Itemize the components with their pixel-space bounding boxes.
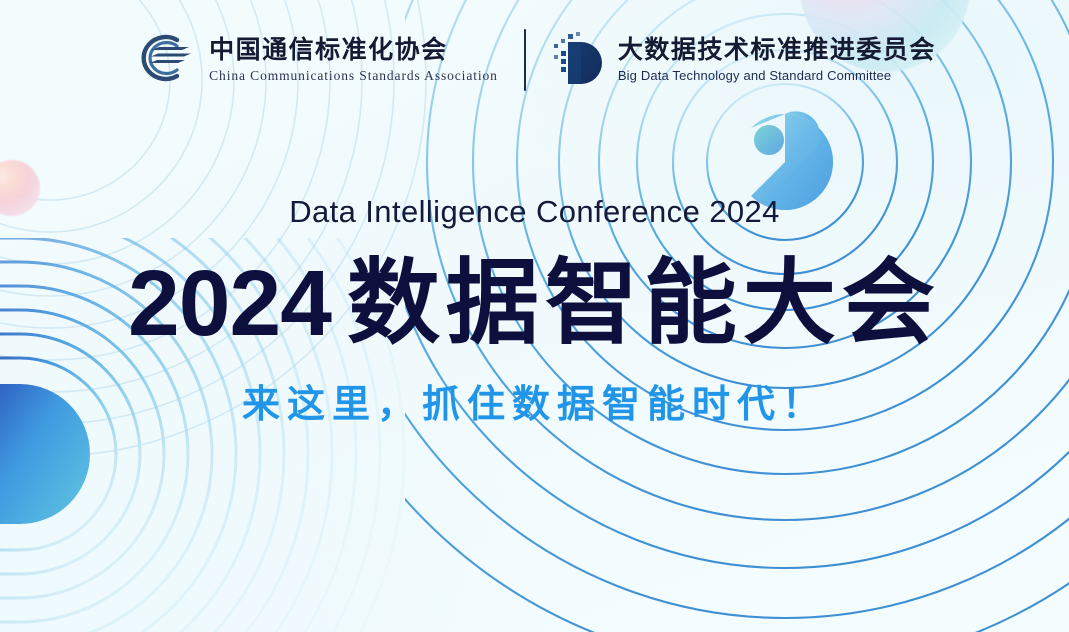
bigdata-logo-text: 大数据技术标准推进委员会 Big Data Technology and Sta… [618, 38, 936, 82]
logo-header: 中国通信标准化协会 China Communications Standards… [0, 0, 1069, 120]
conference-eyebrow: Data Intelligence Conference 2024 [0, 196, 1069, 227]
ccsa-logo-block: 中国通信标准化协会 China Communications Standards… [133, 31, 498, 90]
big-data-d-logo-icon [552, 30, 606, 91]
bigdata-logo-block: 大数据技术标准推进委员会 Big Data Technology and Sta… [552, 30, 936, 91]
conference-poster: 中国通信标准化协会 China Communications Standards… [0, 0, 1069, 632]
headline-year: 2024 [128, 251, 331, 355]
bigdata-name-cn: 大数据技术标准推进委员会 [618, 36, 936, 64]
ccsa-c-swoosh-logo-icon [133, 31, 197, 90]
page-title: 2024数据智能大会 [0, 255, 1069, 352]
logo-divider [524, 29, 526, 91]
ccsa-name-en: China Communications Standards Associati… [209, 69, 498, 83]
ccsa-name-cn: 中国通信标准化协会 [209, 36, 448, 64]
main-copy: Data Intelligence Conference 2024 2024数据… [0, 196, 1069, 424]
ccsa-logo-text: 中国通信标准化协会 China Communications Standards… [209, 38, 498, 83]
headline-cn: 数据智能大会 [347, 251, 941, 355]
bigdata-name-en: Big Data Technology and Standard Committ… [618, 69, 936, 82]
conference-tagline: 来这里，抓住数据智能时代！ [0, 386, 1069, 424]
